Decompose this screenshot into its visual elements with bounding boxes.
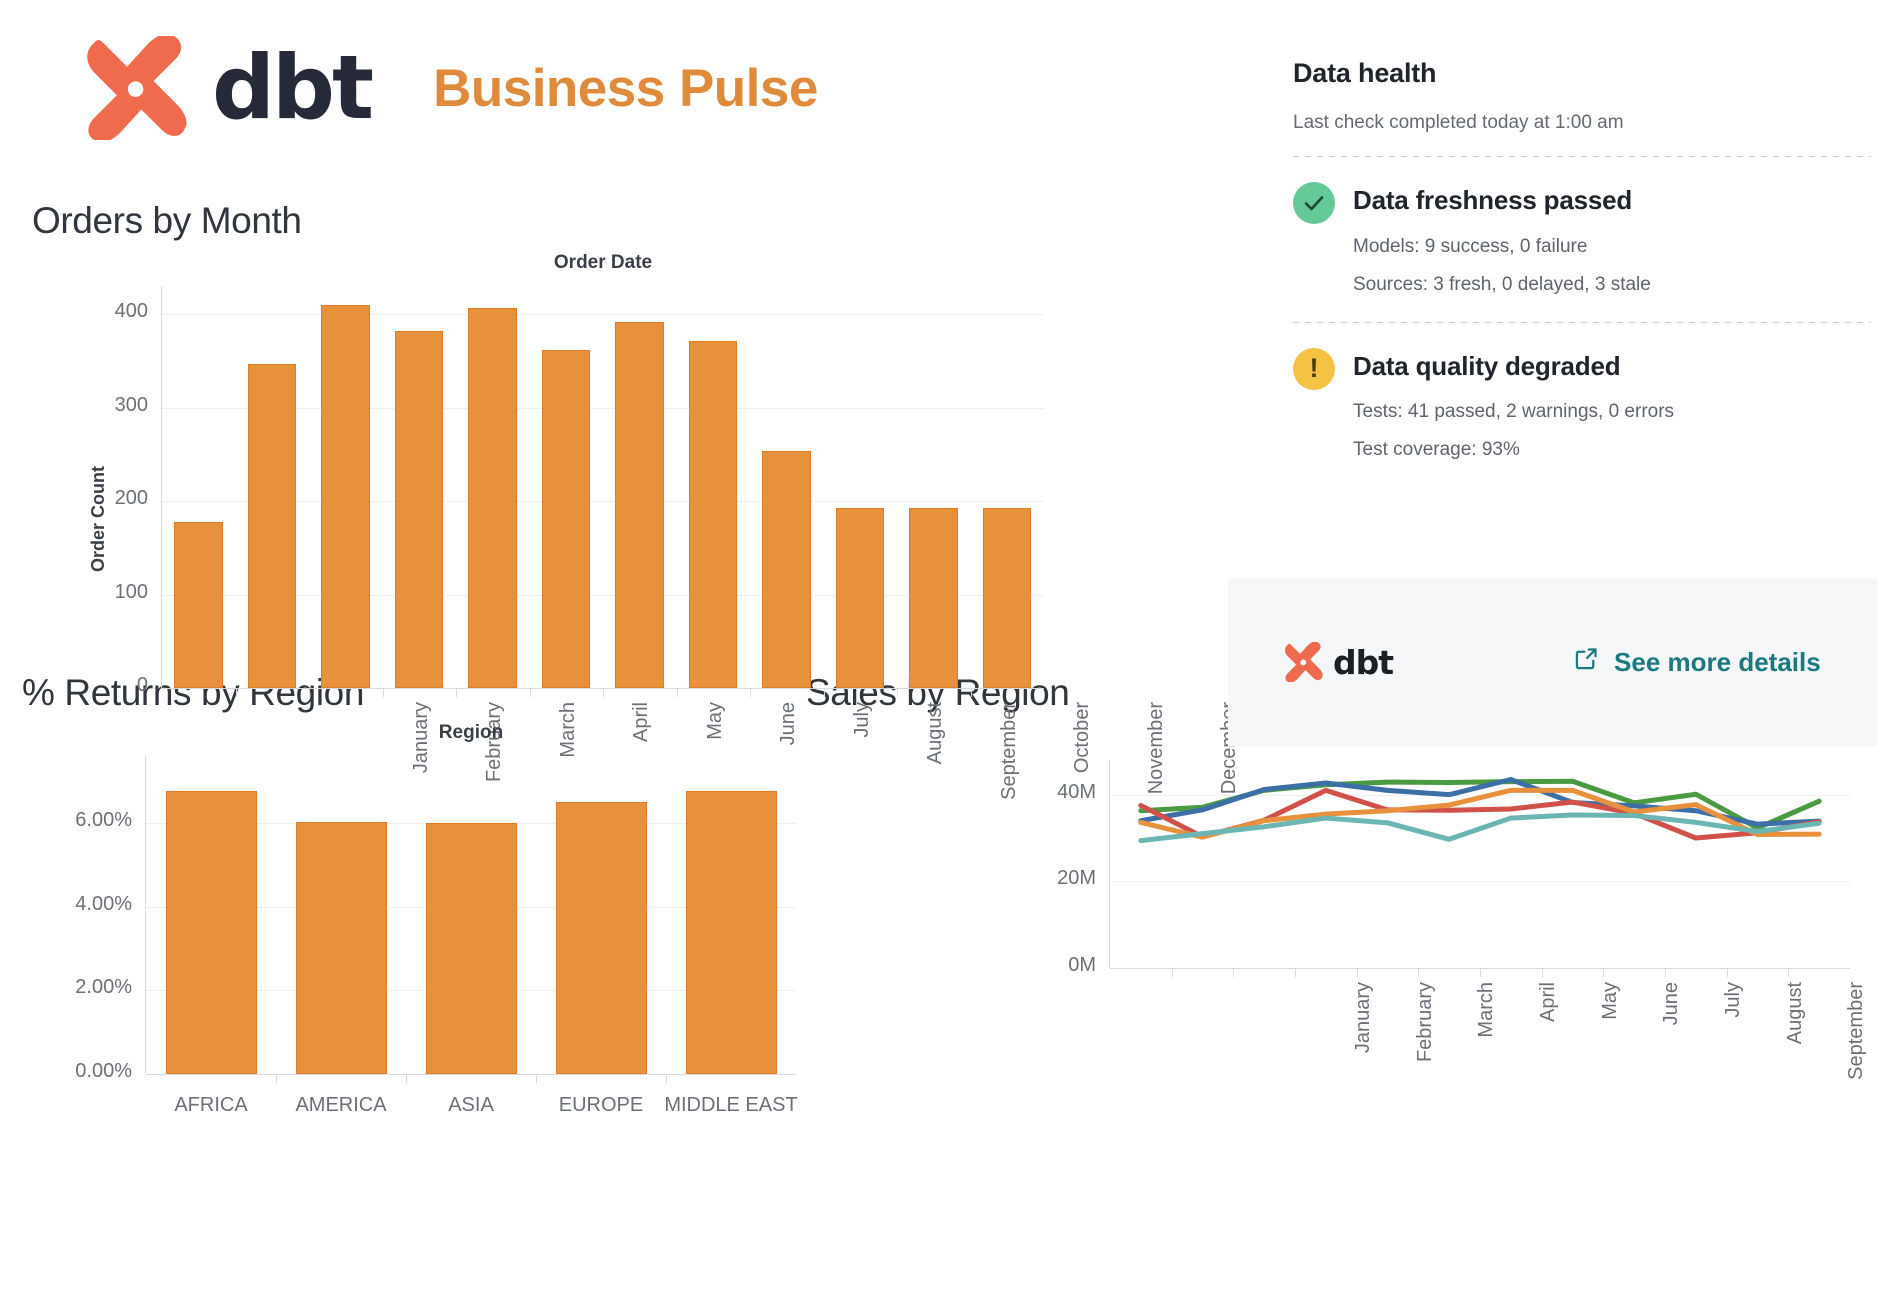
returns-by-region-chart: Region% returns0.00%2.00%4.00%6.00%AFRIC… bbox=[26, 722, 816, 1112]
gridline bbox=[162, 314, 1044, 315]
last-check-text: Last check completed today at 1:00 am bbox=[1293, 112, 1871, 134]
bar[interactable] bbox=[296, 822, 387, 1074]
exclamation-glyph: ! bbox=[1310, 355, 1319, 382]
see-more-details-link[interactable]: See more details bbox=[1573, 645, 1821, 679]
orders-section-title: Orders by Month bbox=[32, 200, 302, 242]
x-tick-mark bbox=[1542, 968, 1543, 977]
x-tick-mark bbox=[666, 1074, 667, 1083]
bar[interactable] bbox=[615, 322, 664, 688]
y-tick-label: 300 bbox=[58, 394, 148, 417]
health-item-quality: ! Data quality degraded Tests: 41 passed… bbox=[1293, 348, 1871, 462]
x-tick-mark bbox=[677, 688, 678, 697]
bar[interactable] bbox=[426, 823, 517, 1074]
bar[interactable] bbox=[762, 451, 811, 688]
x-tick-label: March bbox=[1475, 982, 1498, 1182]
x-tick-mark bbox=[383, 688, 384, 697]
y-tick-label: 400 bbox=[58, 300, 148, 323]
health-item-freshness: Data freshness passed Models: 9 success,… bbox=[1293, 182, 1871, 296]
x-tick-label: August bbox=[924, 702, 947, 902]
y-axis-line bbox=[161, 286, 162, 688]
divider bbox=[1293, 322, 1871, 323]
check-circle-icon bbox=[1293, 182, 1335, 224]
x-tick-mark bbox=[1788, 968, 1789, 977]
divider bbox=[1293, 156, 1871, 157]
x-tick-mark bbox=[971, 688, 972, 697]
bar[interactable] bbox=[689, 341, 738, 688]
x-tick-label: June bbox=[1660, 982, 1683, 1182]
x-tick-label: February bbox=[1414, 982, 1437, 1182]
x-tick-label: January bbox=[1352, 982, 1375, 1182]
data-health-panel: Data health Last check completed today a… bbox=[1293, 58, 1871, 461]
x-tick-label: April bbox=[1537, 982, 1560, 1182]
x-tick-label: July bbox=[851, 702, 874, 902]
x-tick-mark bbox=[309, 688, 310, 697]
dashboard-page: dbt Business Pulse Orders by Month % Ret… bbox=[0, 0, 1878, 1312]
bar[interactable] bbox=[166, 791, 257, 1074]
x-tick-mark bbox=[1357, 968, 1358, 977]
x-tick-mark bbox=[1603, 968, 1604, 977]
sales-by-region-chart: Order DateGross Item Sales Amount0M20M40… bbox=[986, 726, 1878, 1126]
x-tick-mark bbox=[276, 1074, 277, 1083]
dashboard-header: dbt Business Pulse bbox=[84, 36, 818, 140]
y-tick-label: 2.00% bbox=[42, 976, 132, 999]
x-tick-mark bbox=[1480, 968, 1481, 977]
x-tick-mark bbox=[603, 688, 604, 697]
x-tick-mark bbox=[456, 688, 457, 697]
freshness-models-line: Models: 9 success, 0 failure bbox=[1353, 236, 1651, 258]
x-tick-mark bbox=[1233, 968, 1234, 977]
dbt-logo-icon bbox=[84, 36, 196, 140]
bar[interactable] bbox=[983, 508, 1032, 688]
x-tick-mark bbox=[236, 688, 237, 697]
x-tick-mark bbox=[530, 688, 531, 697]
x-tick-mark bbox=[1665, 968, 1666, 977]
x-tick-mark bbox=[824, 688, 825, 697]
y-tick-label: 0.00% bbox=[42, 1060, 132, 1083]
dbt-wordmark: dbt bbox=[212, 44, 371, 132]
bar[interactable] bbox=[556, 802, 647, 1074]
y-tick-label: 200 bbox=[58, 487, 148, 510]
external-link-icon bbox=[1573, 645, 1600, 679]
x-tick-mark bbox=[1727, 968, 1728, 977]
dbt-logo-small: dbt bbox=[1284, 642, 1393, 682]
data-health-heading: Data health bbox=[1293, 58, 1871, 89]
quality-title: Data quality degraded bbox=[1353, 348, 1674, 386]
bar[interactable] bbox=[468, 308, 517, 688]
bar[interactable] bbox=[248, 364, 297, 688]
bar[interactable] bbox=[686, 791, 777, 1074]
see-more-details-label: See more details bbox=[1614, 647, 1821, 678]
bar[interactable] bbox=[909, 508, 958, 688]
x-tick-mark bbox=[536, 1074, 537, 1083]
x-axis-line bbox=[146, 1074, 796, 1075]
quality-coverage-line: Test coverage: 93% bbox=[1353, 439, 1674, 461]
y-axis-line bbox=[145, 756, 146, 1074]
warning-circle-icon: ! bbox=[1293, 348, 1335, 390]
x-tick-mark bbox=[897, 688, 898, 697]
bar[interactable] bbox=[395, 331, 444, 688]
bar[interactable] bbox=[174, 522, 223, 688]
x-tick-mark bbox=[1295, 968, 1296, 977]
x-tick-mark bbox=[750, 688, 751, 697]
x-tick-label: MIDDLE EAST bbox=[631, 1094, 831, 1117]
y-tick-label: 4.00% bbox=[42, 893, 132, 916]
y-axis-title: Order Count bbox=[88, 466, 109, 572]
dbt-logo: dbt bbox=[84, 36, 371, 140]
bar[interactable] bbox=[836, 508, 885, 688]
y-tick-label: 100 bbox=[58, 581, 148, 604]
dbt-wordmark-small: dbt bbox=[1333, 643, 1393, 682]
x-tick-label: May bbox=[1599, 982, 1622, 1182]
orders-by-month-chart: Order DateOrder Count0100200300400Januar… bbox=[36, 252, 1026, 652]
y-tick-label: 0 bbox=[58, 674, 148, 697]
y-tick-label: 6.00% bbox=[42, 809, 132, 832]
freshness-title: Data freshness passed bbox=[1353, 182, 1651, 220]
chart-header: Region bbox=[146, 722, 796, 744]
page-title: Business Pulse bbox=[433, 58, 818, 119]
bar[interactable] bbox=[542, 350, 591, 688]
x-tick-mark bbox=[406, 1074, 407, 1083]
quality-tests-line: Tests: 41 passed, 2 warnings, 0 errors bbox=[1353, 401, 1674, 423]
freshness-sources-line: Sources: 3 fresh, 0 delayed, 3 stale bbox=[1353, 274, 1651, 296]
bar[interactable] bbox=[321, 305, 370, 688]
see-more-details-card[interactable]: dbt See more details bbox=[1228, 578, 1878, 746]
x-tick-label: August bbox=[1784, 982, 1807, 1182]
x-tick-mark bbox=[1418, 968, 1419, 977]
x-tick-mark bbox=[1172, 968, 1173, 977]
chart-header: Order Date bbox=[162, 252, 1044, 274]
x-tick-label: September bbox=[1845, 982, 1868, 1182]
x-tick-label: July bbox=[1722, 982, 1745, 1182]
dbt-logo-icon bbox=[1284, 642, 1326, 682]
